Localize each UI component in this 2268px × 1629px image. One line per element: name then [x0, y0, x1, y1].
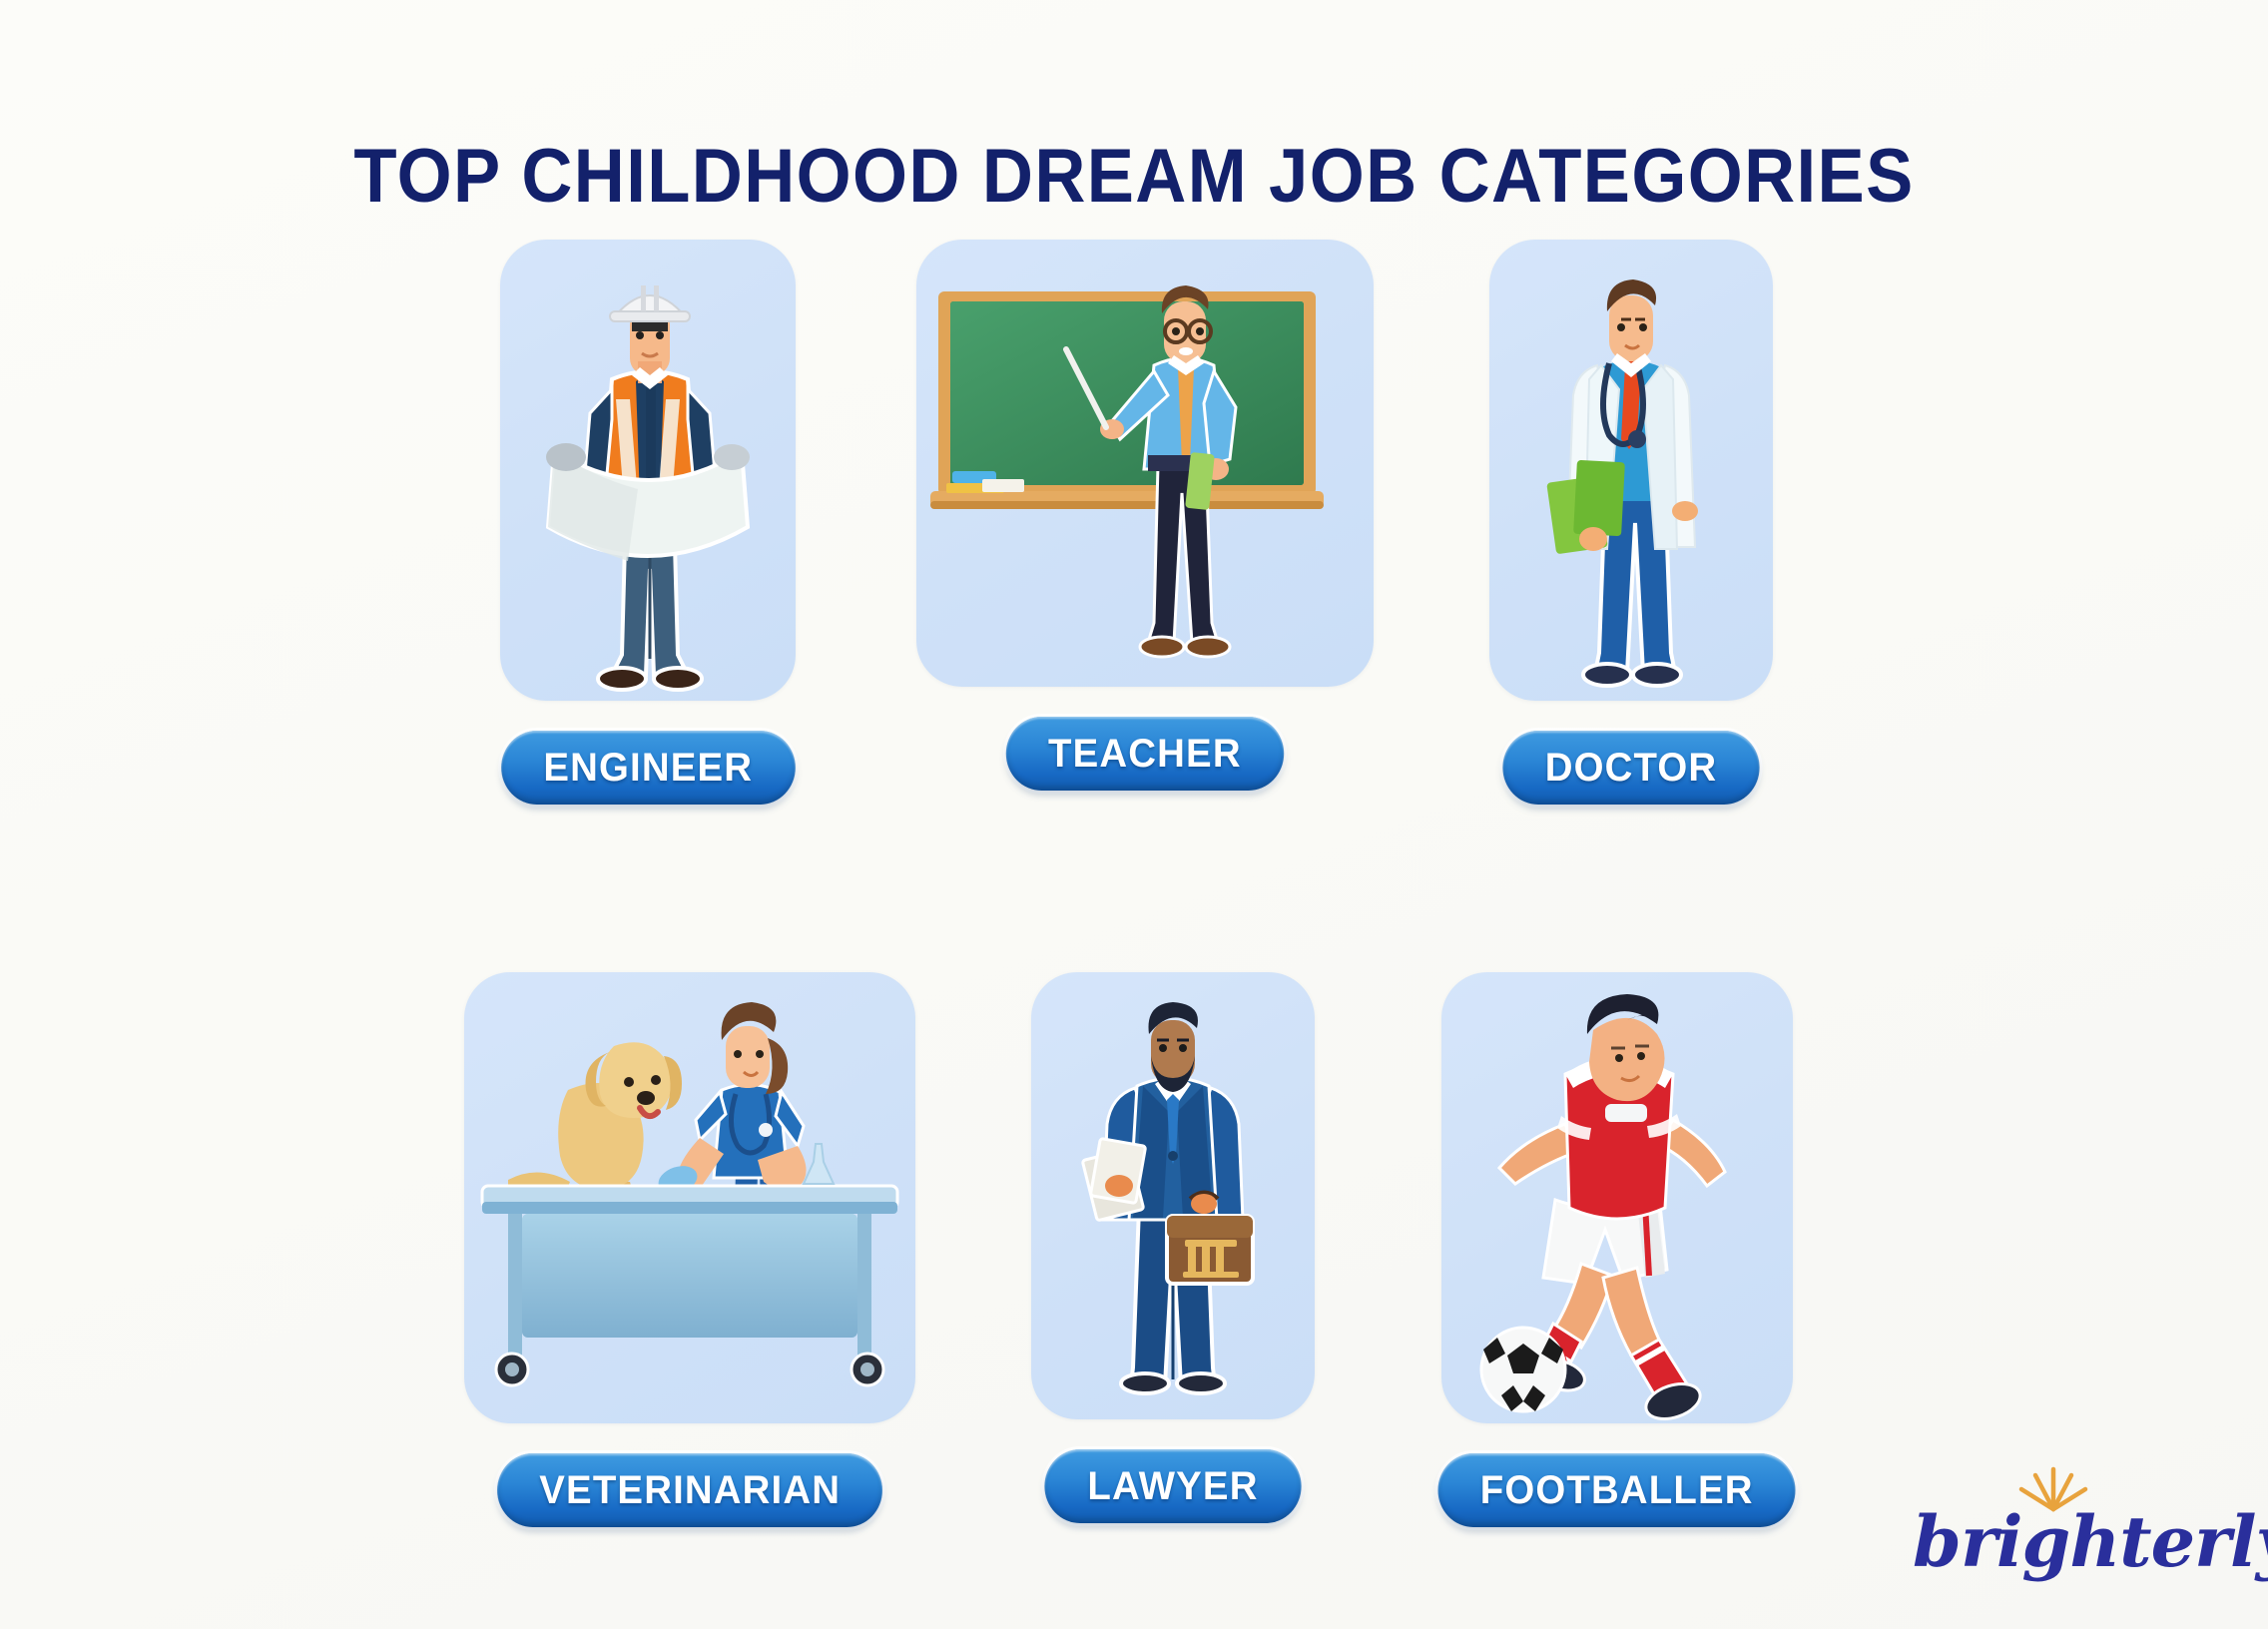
lawyer-label[interactable]: LAWYER — [1045, 1449, 1302, 1523]
footballer-illustration — [1441, 972, 1793, 1423]
job-card-doctor[interactable]: DOCTOR — [1489, 240, 1773, 805]
veterinarian-label[interactable]: VETERINARIAN — [497, 1453, 882, 1527]
lawyer-illustration — [1031, 972, 1315, 1419]
job-card-engineer[interactable]: ENGINEER — [495, 240, 802, 805]
lawyer-card-image — [1031, 972, 1315, 1419]
engineer-card-image — [500, 240, 796, 701]
job-card-veterinarian[interactable]: VETERINARIAN — [464, 972, 915, 1527]
job-card-footballer[interactable]: FOOTBALLER — [1430, 972, 1803, 1527]
doctor-label[interactable]: DOCTOR — [1503, 731, 1760, 805]
teacher-label[interactable]: TEACHER — [1006, 717, 1284, 791]
brighterly-wordmark: brighterly — [1913, 1500, 2268, 1583]
job-row-top: ENGINEER — [0, 240, 2268, 805]
job-card-lawyer[interactable]: LAWYER — [1031, 972, 1315, 1523]
job-category-grid: ENGINEER — [0, 240, 2268, 1527]
page-title: TOP CHILDHOOD DREAM JOB CATEGORIES — [80, 133, 2189, 220]
job-card-teacher[interactable]: TEACHER — [916, 240, 1374, 791]
doctor-illustration — [1489, 240, 1773, 701]
teacher-card-image — [916, 240, 1374, 687]
doctor-card-image — [1489, 240, 1773, 701]
teacher-illustration — [916, 240, 1374, 687]
engineer-illustration — [500, 240, 796, 701]
veterinarian-illustration — [464, 972, 915, 1423]
engineer-label[interactable]: ENGINEER — [501, 731, 795, 805]
brighterly-logo: brighterly — [1913, 1459, 2212, 1589]
job-row-bottom: VETERINARIAN — [0, 972, 2268, 1527]
footballer-label[interactable]: FOOTBALLER — [1438, 1453, 1796, 1527]
footballer-card-image — [1441, 972, 1793, 1423]
veterinarian-card-image — [464, 972, 915, 1423]
